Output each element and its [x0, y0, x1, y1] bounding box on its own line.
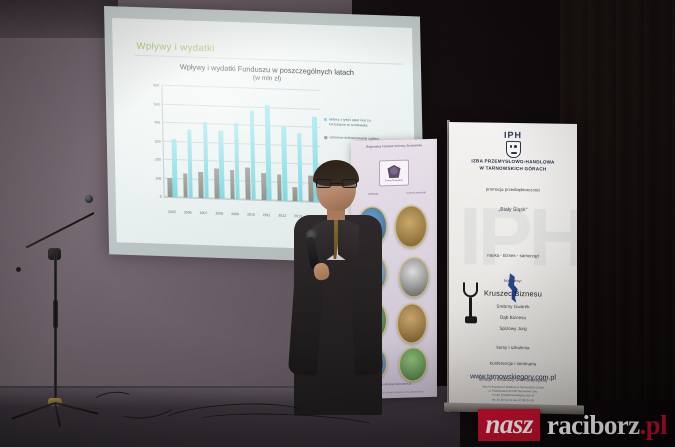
chart-bar [167, 177, 172, 197]
chart-bar-group [197, 87, 209, 198]
watermark-brand-rest: raciborz.pl [547, 410, 667, 440]
chart-y-tick-label: 0 [160, 195, 162, 199]
legend-label: wpływy z tytułu opłat i kar za korzystan… [329, 117, 386, 129]
chart-bar [234, 123, 240, 199]
chart-bar-group [228, 88, 240, 199]
banner-right-footer: Izba Przemysłowo-Handlowa w Tarnowskich … [455, 385, 571, 404]
banner-left-photo [395, 205, 427, 248]
chart-y-tick-label: 200 [155, 157, 161, 161]
watermark-brand-block: nasz [478, 409, 540, 441]
banner-left-top-text: Regionalny Fundusz Ochrony Środowiska [355, 143, 433, 150]
mic-stand-pole [54, 255, 57, 403]
shield-icon [505, 141, 520, 158]
banner-right-url: www.tarnowskiegory.com.pl [455, 371, 571, 382]
wall-upper-dark-panel [0, 0, 118, 38]
banner-right-tagline: promocja przedsiębiorczości [455, 186, 571, 193]
banner-right-award: Spiżowy Jorg [455, 324, 571, 334]
chart-bar [265, 105, 272, 201]
banner-left-photo [399, 257, 429, 298]
banner-right-service: konferencje i seminaria [455, 360, 571, 367]
chart-x-tick-label: 2006 [184, 210, 192, 214]
banner-left-photo [399, 347, 427, 382]
chart-y-tick-label: 300 [154, 139, 160, 143]
banner-right-award-main: Kruszec Biznesu [455, 288, 571, 299]
chart-x-tick-label: 2007 [200, 211, 208, 215]
stage-curtain [560, 0, 675, 400]
conference-photo-scene: Wpływy i wydatki Wpływy i wydatki Fundus… [0, 0, 675, 447]
banner-right: IPH IPH IZBA PRZEMYSŁOWO-HANDLOWA W TARN… [449, 122, 577, 409]
glasses-icon [316, 179, 357, 188]
banner-left-photo [397, 303, 427, 344]
banner-right-logo: IPH [504, 130, 522, 158]
chart-bar-group [181, 86, 193, 197]
chart-bar [218, 130, 224, 199]
mic-stand-counterweight [16, 267, 21, 272]
chart-bar [187, 129, 193, 198]
chart-y-tick-label: 600 [153, 83, 159, 87]
chart-bar-group [244, 88, 256, 199]
slide-title: Wpływy i wydatki [136, 41, 214, 55]
banner-right-heading: IZBA PRZEMYSŁOWO-HANDLOWA W TARNOWSKICH … [455, 157, 571, 173]
banner-right-service: kursy i szkolenia [455, 344, 571, 351]
chart-bar [249, 110, 255, 200]
chart-bar-group [259, 89, 271, 200]
iph-logo-text: IPH [504, 130, 522, 140]
watermark-logo: nasz raciborz.pl [478, 409, 667, 441]
chart-x-tick-label: 2005 [168, 210, 176, 214]
chart-bar [172, 139, 178, 197]
legend-swatch-icon [324, 118, 327, 121]
banner-left-column-label: ochrona przyrody [397, 191, 435, 196]
chart-x-tick-label: 2011 [263, 213, 271, 217]
mic-stand-grip [53, 300, 58, 328]
chart-x-tick-label: 2009 [231, 212, 239, 216]
chart-x-tick-label: 2008 [215, 211, 223, 215]
speaker-person [286, 163, 390, 447]
chart-y-tick-label: 400 [154, 120, 160, 124]
mic-stand-tip [85, 195, 93, 203]
chart-y-tick-label: 500 [154, 102, 160, 106]
banner-right-region: „Biały Śląsk" [455, 206, 571, 214]
legend-item: wpływy z tytułu opłat i kar za korzystan… [324, 117, 386, 129]
watermark-tld: .pl [640, 410, 667, 440]
chart-x-tick-label: 2010 [247, 213, 255, 217]
chart-bar-group [212, 87, 224, 198]
banner-right-motto: nauka - biznes - samorząd [455, 252, 571, 259]
chart-bar-group [165, 86, 177, 197]
legend-swatch-icon [324, 136, 327, 139]
chart-y-tick-label: 100 [155, 176, 161, 180]
chart-bar [203, 122, 209, 198]
